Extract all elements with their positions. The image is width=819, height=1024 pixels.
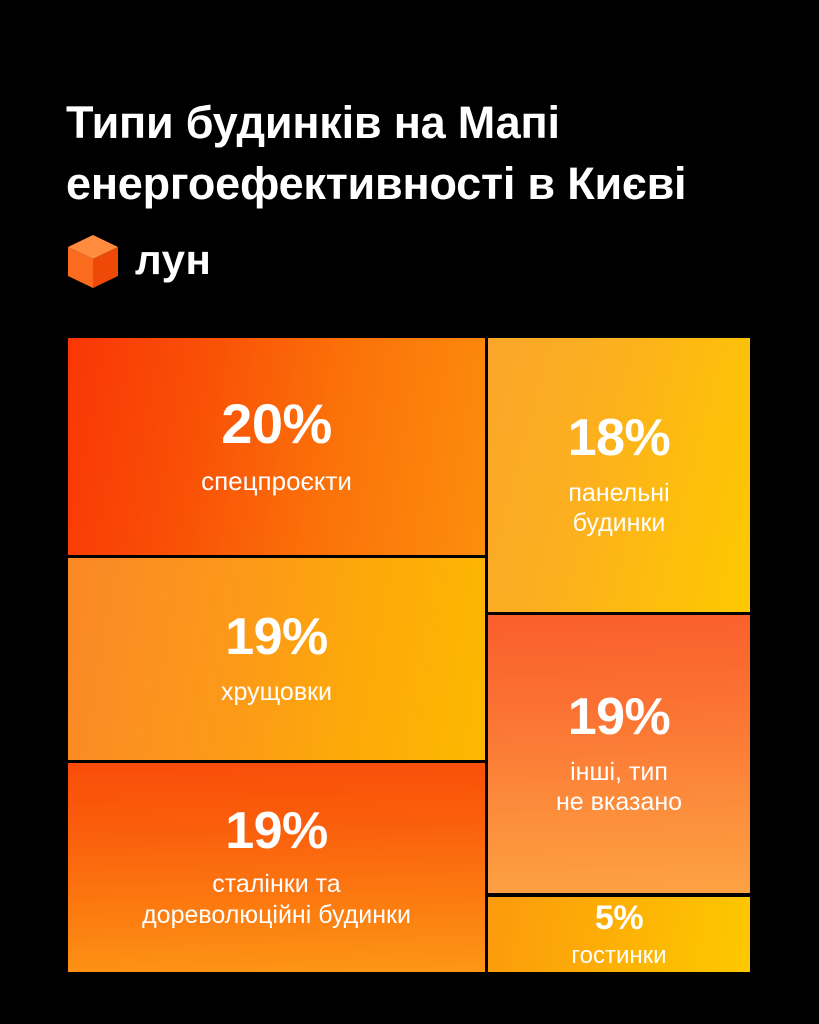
tile-panel-buildings[interactable]: 18% панельні будинки: [488, 338, 750, 612]
tile-percent: 5%: [595, 901, 643, 935]
tile-specprojects[interactable]: 20% спецпроєкти: [68, 338, 485, 555]
tile-label: гостинки: [571, 941, 666, 970]
building-type-treemap: 20% спецпроєкти 18% панельні будинки 19%…: [68, 338, 750, 972]
brand-name: лун: [135, 239, 211, 285]
tile-label: спецпроєкти: [201, 466, 352, 498]
tile-percent: 19%: [568, 691, 671, 743]
page-title: Типи будинків на Мапі енергоефективності…: [66, 92, 766, 214]
tile-label: хрущовки: [221, 677, 332, 708]
tile-label: сталінки та дореволюційні будинки: [142, 869, 411, 930]
tile-percent: 19%: [225, 611, 328, 663]
tile-percent: 20%: [221, 396, 332, 452]
tile-hostynky[interactable]: 5% гостинки: [488, 897, 750, 972]
tile-khrushchovky[interactable]: 19% хрущовки: [68, 558, 485, 760]
tile-label: інші, тип не вказано: [556, 757, 682, 818]
header: Типи будинків на Мапі енергоефективності…: [66, 92, 766, 214]
brand-logo[interactable]: лун: [66, 234, 211, 290]
tile-stalinky-prerevolutionary[interactable]: 19% сталінки та дореволюційні будинки: [68, 763, 485, 972]
orange-cube-icon: [66, 234, 120, 290]
tile-label: панельні будинки: [568, 478, 669, 539]
tile-percent: 19%: [225, 805, 328, 857]
tile-other-unspecified[interactable]: 19% інші, тип не вказано: [488, 615, 750, 893]
tile-percent: 18%: [568, 412, 671, 464]
